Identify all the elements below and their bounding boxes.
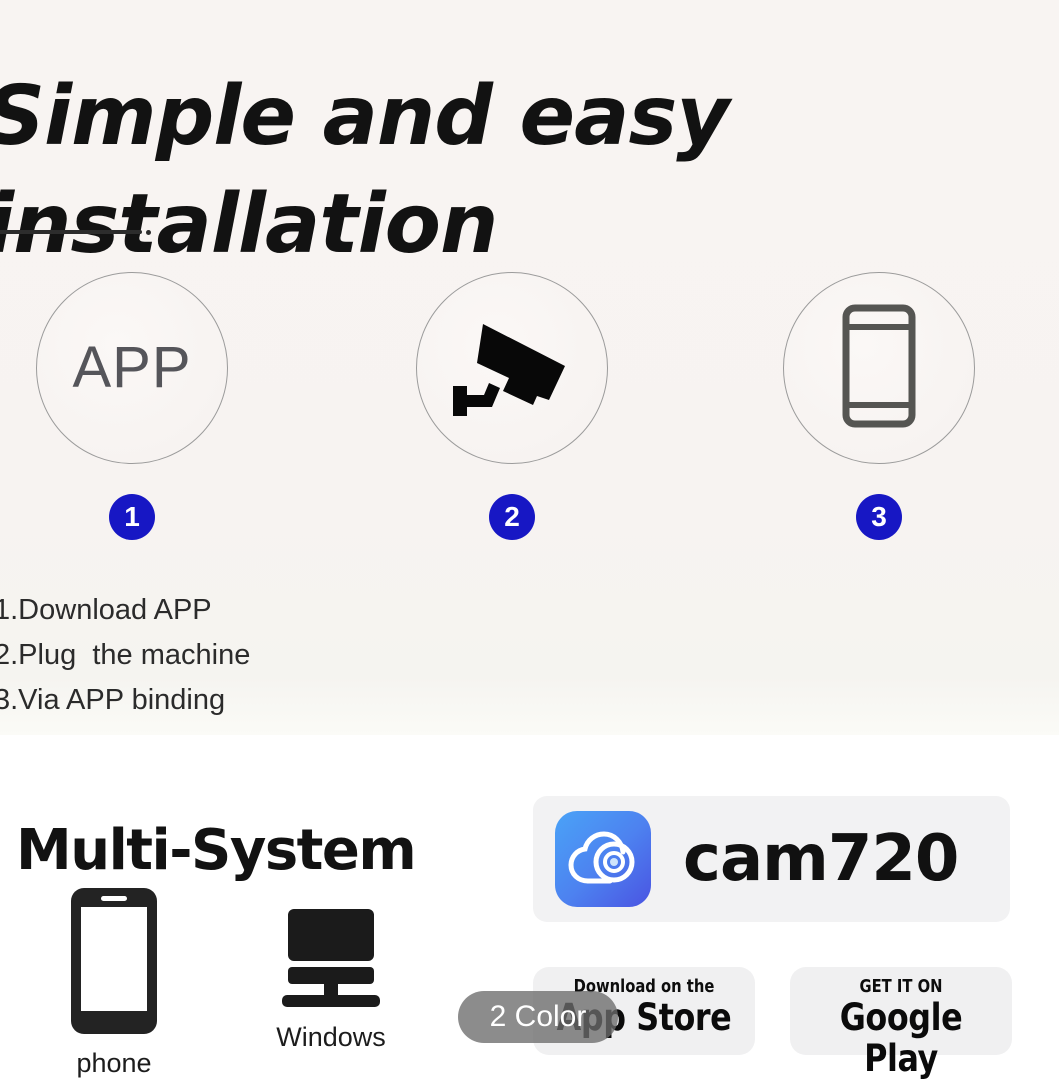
instruction-line-3: 3.Via APP binding <box>0 678 514 723</box>
brand-name: cam720 <box>683 827 958 891</box>
step-2-circle <box>416 272 608 464</box>
title-underline-dot <box>146 230 151 235</box>
step-2-number-badge: 2 <box>489 494 535 540</box>
installation-instructions-list: 1.Download APP 2.Plug the machine 3.Via … <box>0 588 514 724</box>
cloud-camera-icon <box>555 811 651 907</box>
step-3-number-badge: 3 <box>856 494 902 540</box>
smartphone-icon <box>68 1024 160 1041</box>
platform-windows: Windows <box>252 907 410 1051</box>
title-underline-rule <box>0 230 142 234</box>
step-1-circle: APP <box>36 272 228 464</box>
cctv-camera-icon <box>437 308 587 429</box>
installation-step-3: 3 <box>749 272 1009 572</box>
multi-system-title: Multi-System <box>16 823 415 879</box>
product-infographic-page: Simple and easy installation APP 1 <box>0 0 1059 1080</box>
installation-step-1: APP 1 <box>2 272 262 572</box>
brand-card: cam720 <box>533 796 1010 922</box>
step-3-circle <box>783 272 975 464</box>
instruction-line-2: 2.Plug the machine <box>0 633 514 678</box>
installation-steps-row: APP 1 2 <box>0 272 1059 572</box>
google-play-badge-small-text: GET IT ON <box>810 977 992 997</box>
platform-phone: phone <box>46 885 182 1077</box>
color-variant-pill[interactable]: 2 Color <box>458 991 618 1043</box>
monitor-icon <box>277 998 385 1015</box>
smartphone-outline-icon <box>842 304 916 433</box>
installation-title: Simple and easy installation <box>0 63 986 279</box>
platform-phone-label: phone <box>46 1050 182 1077</box>
installation-section: Simple and easy installation APP 1 <box>0 0 1059 735</box>
step-1-number-badge: 1 <box>109 494 155 540</box>
platform-windows-label: Windows <box>252 1024 410 1051</box>
google-play-badge[interactable]: GET IT ON Google Play <box>790 967 1012 1055</box>
google-play-badge-big-text: Google Play <box>806 997 997 1080</box>
app-text-icon: APP <box>72 339 191 397</box>
installation-step-2: 2 <box>382 272 642 572</box>
instruction-line-1: 1.Download APP <box>0 588 514 633</box>
